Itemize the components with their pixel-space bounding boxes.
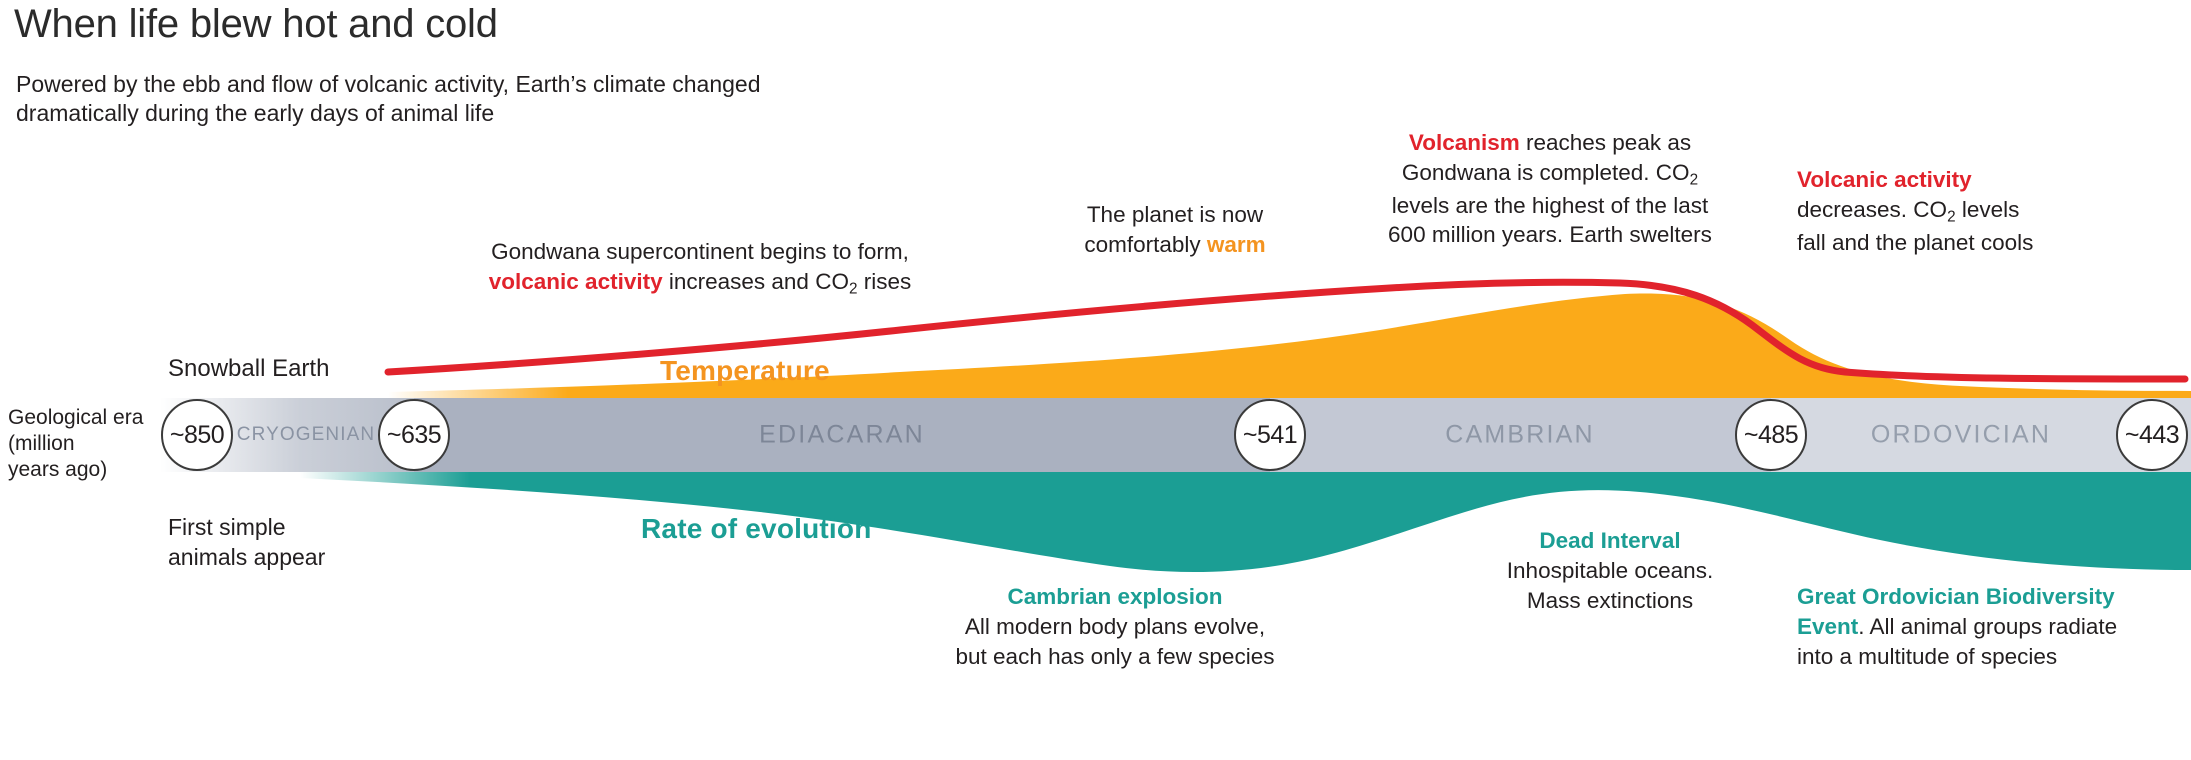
annotation-text: rises [857, 269, 911, 294]
annotation-line: Gondwana is completed. CO2 [1320, 158, 1780, 191]
annotation-text: comfortably [1084, 232, 1207, 257]
temperature-area [388, 293, 2191, 398]
annotation-line: Inhospitable oceans. [1425, 556, 1795, 586]
page-subtitle: Powered by the ebb and flow of volcanic … [16, 70, 761, 129]
highlight-volcanic-activity: Volcanic activity [1797, 167, 1972, 192]
era-marker-635[interactable]: ~635 [378, 399, 450, 471]
annotation-volcanism-decrease: Volcanic activity decreases. CO2 levels … [1797, 165, 2167, 257]
highlight-warm: warm [1207, 232, 1266, 257]
annotation-text: reaches peak as [1520, 130, 1691, 155]
highlight-ordovician-event: Great Ordovician Biodiversity [1797, 584, 2115, 609]
era-marker-443[interactable]: ~443 [2116, 399, 2188, 471]
highlight-volcanism: Volcanism [1409, 130, 1520, 155]
annotation-line: All modern body plans evolve, [895, 612, 1335, 642]
highlight-cambrian-explosion: Cambrian explosion [1007, 584, 1222, 609]
era-label-ediacaran: EDIACARAN [759, 421, 925, 450]
temperature-curve-label: Temperature [660, 355, 830, 387]
annotation-text: decreases. CO [1797, 197, 1947, 222]
annotation-text: increases and CO [663, 269, 849, 294]
highlight-ordovician-event-2: Event [1797, 614, 1858, 639]
annotation-planet-warm: The planet is now comfortably warm [1030, 200, 1320, 260]
annotation-line: into a multitude of species [1797, 642, 2191, 672]
co2-subscript: 2 [1947, 208, 1956, 225]
annotation-text: The planet is now [1087, 202, 1263, 227]
era-marker-850[interactable]: ~850 [161, 399, 233, 471]
annotation-cambrian-explosion: Cambrian explosion All modern body plans… [895, 582, 1335, 672]
annotation-line: Great Ordovician Biodiversity [1797, 582, 2191, 612]
co2-subscript: 2 [1690, 171, 1699, 188]
annotation-gondwana-forms: Gondwana supercontinent begins to form, … [430, 237, 970, 300]
annotation-text: . All animal groups radiate [1858, 614, 2117, 639]
annotation-line: Volcanism reaches peak as [1320, 128, 1780, 158]
annotation-line: Dead Interval [1425, 526, 1795, 556]
annotation-volcanism-peak: Volcanism reaches peak as Gondwana is co… [1320, 128, 1780, 250]
annotation-ordovician-event: Great Ordovician Biodiversity Event. All… [1797, 582, 2191, 672]
highlight-dead-interval: Dead Interval [1539, 528, 1680, 553]
annotation-line: Gondwana supercontinent begins to form, [430, 237, 970, 267]
first-animals-label: First simple animals appear [168, 513, 325, 573]
era-marker-485[interactable]: ~485 [1735, 399, 1807, 471]
annotation-line: The planet is now [1030, 200, 1320, 230]
annotation-line: but each has only a few species [895, 642, 1335, 672]
evolution-area [300, 472, 2191, 572]
annotation-line: 600 million years. Earth swelters [1320, 220, 1780, 250]
evolution-curve-label: Rate of evolution [641, 513, 872, 545]
annotation-line: comfortably warm [1030, 230, 1320, 260]
axis-caption: Geological era (million years ago) [8, 405, 158, 483]
annotation-line: decreases. CO2 levels [1797, 195, 2167, 228]
infographic-canvas: When life blew hot and cold Powered by t… [0, 0, 2191, 760]
annotation-text: Gondwana supercontinent begins to form, [491, 239, 909, 264]
page-title: When life blew hot and cold [14, 2, 498, 47]
snowball-earth-label: Snowball Earth [168, 355, 329, 383]
annotation-text: Gondwana is completed. CO [1402, 160, 1690, 185]
annotation-line: levels are the highest of the last [1320, 191, 1780, 221]
era-label-ordovician: ORDOVICIAN [1871, 421, 2051, 450]
era-label-cambrian: CAMBRIAN [1445, 421, 1595, 450]
annotation-line: Cambrian explosion [895, 582, 1335, 612]
annotation-text: levels [1956, 197, 2020, 222]
annotation-dead-interval: Dead Interval Inhospitable oceans. Mass … [1425, 526, 1795, 616]
annotation-line: Mass extinctions [1425, 586, 1795, 616]
era-label-cryogenian: CRYOGENIAN [237, 424, 375, 446]
era-marker-541[interactable]: ~541 [1234, 399, 1306, 471]
annotation-line: volcanic activity increases and CO2 rise… [430, 267, 970, 300]
annotation-line: Volcanic activity [1797, 165, 2167, 195]
highlight-volcanic-activity: volcanic activity [489, 269, 663, 294]
annotation-line: fall and the planet cools [1797, 228, 2167, 258]
annotation-line: Event. All animal groups radiate [1797, 612, 2191, 642]
